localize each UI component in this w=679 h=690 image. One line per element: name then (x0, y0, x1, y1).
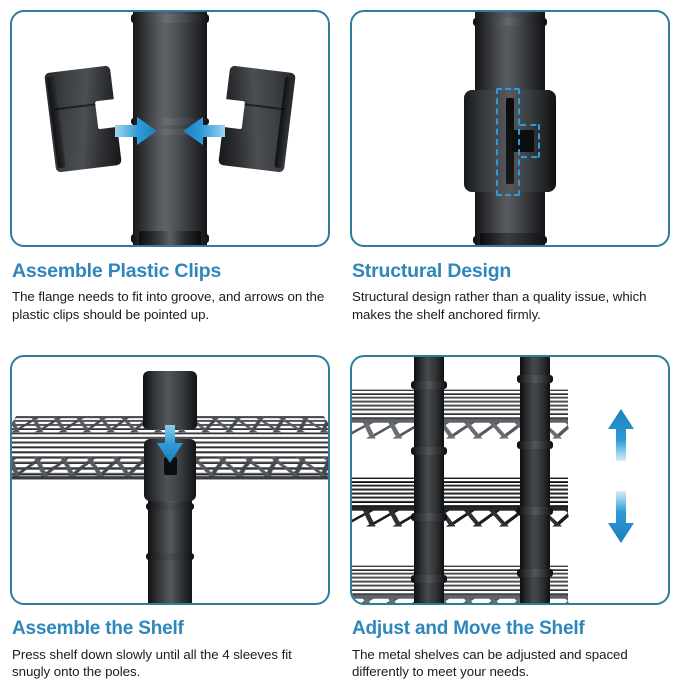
illustration-panel-3 (10, 355, 330, 605)
shelf-corner-sleeve (143, 371, 197, 429)
step-4-body: The metal shelves can be adjusted and sp… (352, 646, 667, 681)
clip-right-edge (274, 76, 293, 168)
step-assemble-the-shelf: Assemble the Shelf Press shelf down slow… (0, 345, 340, 690)
post-ring (411, 575, 447, 583)
pole-foot-cap (480, 233, 540, 245)
step-3-heading: Assemble the Shelf (12, 619, 328, 640)
step-1-text: Assemble Plastic Clips The flange needs … (10, 247, 330, 324)
post-ring (411, 447, 447, 455)
dashed-joint-outline-branch (518, 124, 540, 158)
post-ring (517, 507, 553, 515)
post-ring (517, 375, 553, 383)
post-ring (411, 513, 447, 521)
step-1-heading: Assemble Plastic Clips (12, 261, 328, 282)
step-1-body: The flange needs to fit into groove, and… (12, 288, 328, 323)
step-3-body: Press shelf down slowly until all the 4 … (12, 646, 328, 681)
post-ring-lower (146, 553, 194, 560)
post-ring (411, 381, 447, 389)
step-assemble-plastic-clips: Assemble Plastic Clips The flange needs … (0, 0, 340, 345)
arrow-move-down-icon (608, 491, 634, 543)
illustration-panel-1 (10, 10, 330, 247)
three-tier-shelf-illustration (352, 357, 668, 603)
step-4-text: Adjust and Move the Shelf The metal shel… (350, 605, 669, 681)
arrow-right-to-pole-icon (183, 116, 225, 146)
instruction-grid: Assemble Plastic Clips The flange needs … (0, 0, 679, 690)
pole-ring-top (473, 18, 547, 26)
pole-ring-top (131, 14, 209, 23)
arrow-move-up-icon (608, 409, 634, 461)
step-2-text: Structural Design Structural design rath… (350, 247, 669, 324)
step-adjust-and-move-the-shelf: Adjust and Move the Shelf The metal shel… (340, 345, 679, 690)
assembled-sleeve-illustration (352, 12, 668, 245)
step-4-heading: Adjust and Move the Shelf (352, 619, 667, 640)
pole-with-clips-illustration (12, 12, 328, 245)
shelf-onto-post-illustration (12, 357, 328, 603)
post-ring-upper (146, 503, 194, 510)
post-ring (517, 441, 553, 449)
plastic-clip-right (218, 65, 296, 172)
post-ring (517, 569, 553, 577)
arrow-left-to-pole-icon (115, 116, 157, 146)
instruction-sheet: Assemble Plastic Clips The flange needs … (0, 0, 679, 690)
dashed-joint-outline (496, 88, 520, 196)
step-2-heading: Structural Design (352, 261, 667, 282)
step-2-body: Structural design rather than a quality … (352, 288, 667, 323)
step-structural-design: Structural Design Structural design rath… (340, 0, 679, 345)
shelf-post-right (520, 357, 550, 603)
illustration-panel-2 (350, 10, 670, 247)
shelf-post-left (414, 357, 444, 603)
clip-left-edge (47, 76, 66, 168)
arrow-press-down-icon (157, 425, 183, 463)
plastic-clip-left (44, 65, 122, 172)
pole-foot-cap (139, 231, 201, 245)
illustration-panel-4 (350, 355, 670, 605)
step-3-text: Assemble the Shelf Press shelf down slow… (10, 605, 330, 681)
